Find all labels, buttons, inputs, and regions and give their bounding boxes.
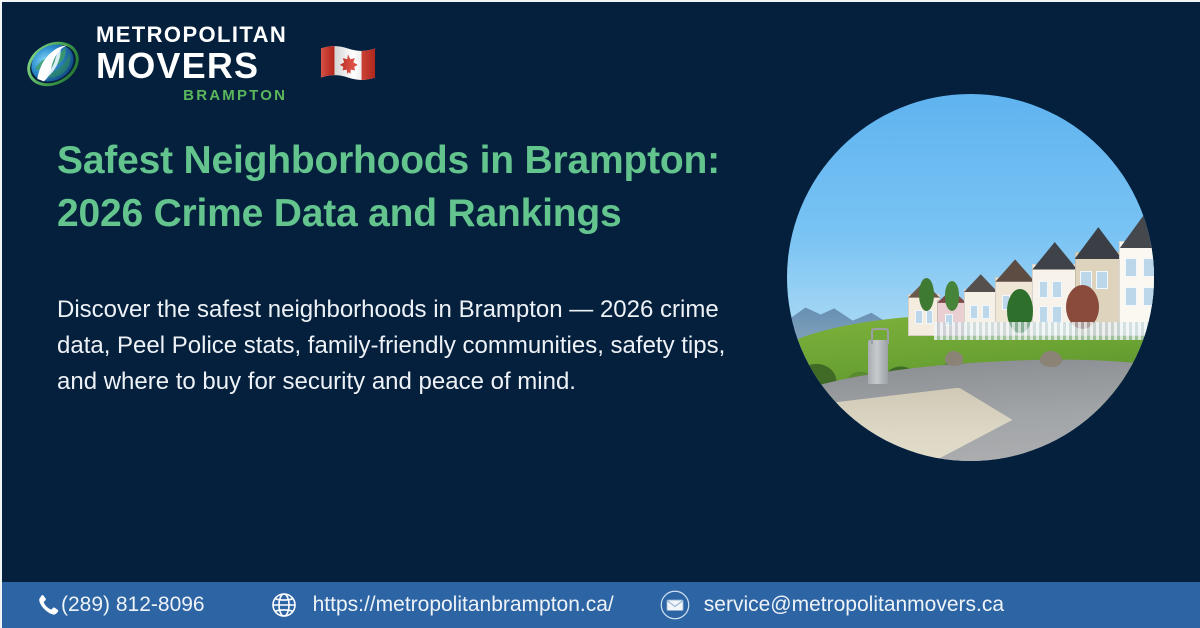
photo-window [1052,306,1062,323]
photo-window [1096,271,1107,289]
brand-name-movers: MOVERS [96,48,259,84]
photo-roof [964,274,998,292]
globe-swoosh-logo-icon [24,35,82,93]
brand-location-brampton: BRAMPTON [183,88,287,103]
brand-name-metropolitan: METROPOLITAN [96,24,287,46]
contact-bar: (289) 812-8096 https://metropolitanbramp… [2,582,1200,628]
photo-window [970,305,978,319]
page-title: Safest Neighborhoods in Brampton: 2026 C… [57,134,757,241]
photo-window [1039,306,1049,323]
contact-website[interactable]: https://metropolitanbrampton.ca/ [269,590,614,620]
photo-mailbox [868,340,888,384]
page-description: Discover the safest neighborhoods in Bra… [57,292,757,400]
globe-icon [269,590,299,620]
photo-window [926,310,934,324]
photo-window [1125,287,1138,306]
photo-window [1143,258,1154,277]
photo-palm-tree [919,278,934,311]
brand-wordmark: METROPOLITAN MOVERS BRAMPTON [96,24,287,103]
photo-roof [995,259,1035,281]
photo-roof [1032,242,1077,270]
photo-window [1039,281,1049,298]
contact-email[interactable]: service@metropolitanmovers.ca [658,588,1004,622]
envelope-icon [658,588,692,622]
contact-website-value: https://metropolitanbrampton.ca/ [313,593,614,617]
contact-phone[interactable]: (289) 812-8096 [34,592,205,618]
promo-banner: METROPOLITAN MOVERS BRAMPTON [0,0,1200,628]
photo-rock [945,351,963,366]
phone-icon [34,592,60,618]
photo-rock [1040,351,1062,368]
contact-email-value: service@metropolitanmovers.ca [704,593,1004,617]
photo-window [915,310,923,324]
photo-window [1125,258,1138,277]
brand-logo-lockup[interactable]: METROPOLITAN MOVERS BRAMPTON [24,24,377,103]
photo-window [1143,287,1154,306]
photo-window [1052,281,1062,298]
hero-image-circle [787,94,1154,461]
canada-flag-icon [319,43,377,85]
photo-palm-tree [945,281,960,310]
contact-phone-value: (289) 812-8096 [61,593,205,617]
photo-window [982,305,990,319]
